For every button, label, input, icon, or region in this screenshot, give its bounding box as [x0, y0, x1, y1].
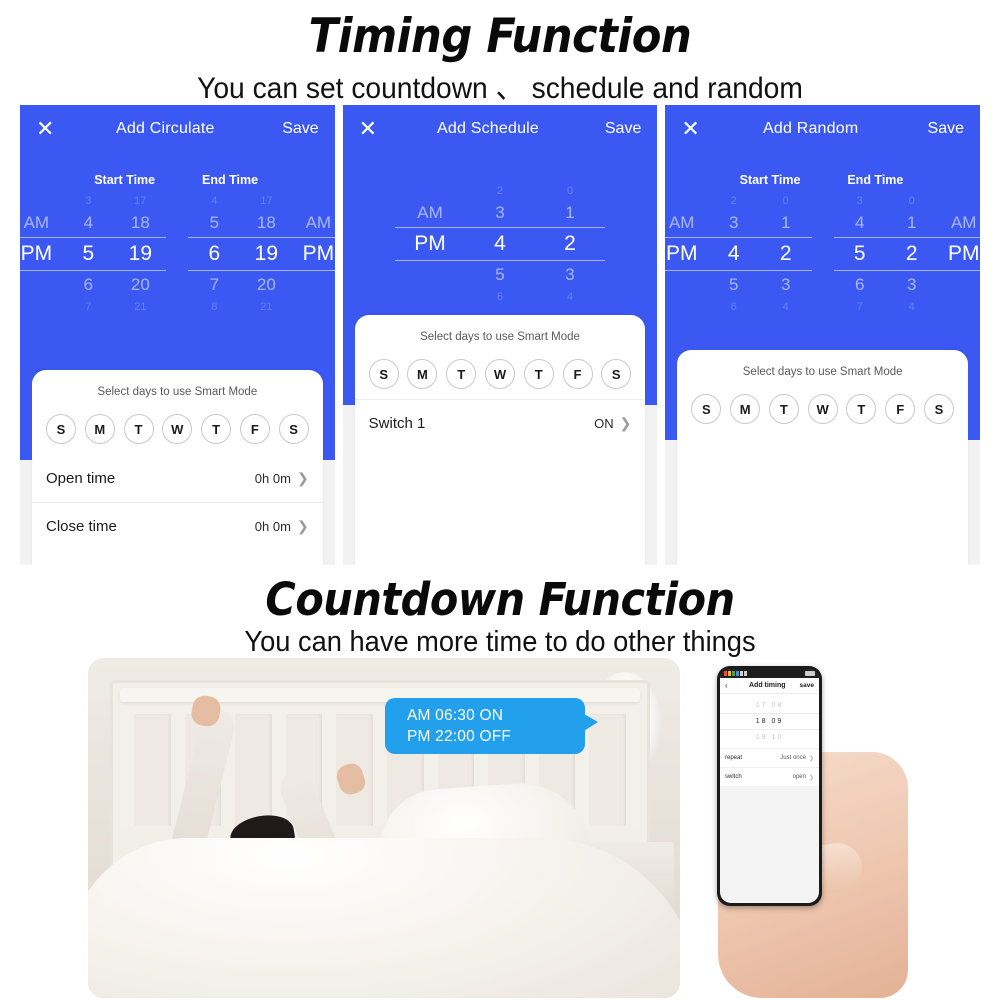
wheel-option[interactable]: 17: [114, 193, 166, 209]
page-title-countdown: Countdown Function: [40, 565, 960, 627]
wheel-option[interactable]: 18: [240, 209, 292, 237]
row-label: Open time: [46, 470, 255, 487]
wheel-option[interactable]: 3: [465, 199, 535, 227]
wheel-option[interactable]: 6: [62, 271, 114, 299]
wheel-start-hour[interactable]: 23456: [708, 193, 760, 315]
day-toggle-3[interactable]: W: [808, 394, 838, 424]
card-title: Select days to use Smart Mode: [32, 370, 323, 400]
wheel-option[interactable]: 3: [62, 193, 114, 209]
row-value: ON: [594, 416, 614, 431]
wheel-gap: [166, 193, 188, 315]
wheel-option[interactable]: [20, 271, 62, 299]
wheel-option[interactable]: 5: [62, 237, 114, 271]
spacer: [32, 444, 323, 454]
app-screens-row: ✕Add CirculateSaveStart TimeEnd TimeAMPM…: [20, 105, 980, 565]
phone-settings-rows: repeatJust once❯switchopen❯: [720, 748, 819, 786]
wheel-option[interactable]: 2: [886, 237, 938, 271]
wheel-option[interactable]: 5: [465, 261, 535, 289]
phone-settings-row[interactable]: repeatJust once❯: [720, 748, 819, 767]
wheel-option[interactable]: [292, 271, 334, 299]
phone-row-value: open: [793, 774, 806, 780]
wheel-option[interactable]: 7: [62, 299, 114, 315]
wheel-end-hour[interactable]: 34567: [834, 193, 886, 315]
wheel-option[interactable]: 4: [760, 299, 812, 315]
chevron-right-icon[interactable]: ❯: [297, 518, 309, 535]
wheel-option[interactable]: [938, 299, 980, 315]
wheel-option[interactable]: PM: [938, 237, 980, 271]
settings-row[interactable]: Switch 1ON❯: [355, 399, 646, 447]
screen-title: Add Random: [709, 120, 912, 138]
wheel-option[interactable]: [292, 193, 334, 209]
wheel-option[interactable]: 20: [240, 271, 292, 299]
phone-empty-area: [720, 786, 819, 846]
card-title: Select days to use Smart Mode: [355, 315, 646, 345]
phone-row-value: Just once: [780, 755, 806, 761]
wheel-option[interactable]: [20, 299, 62, 315]
wheel-option[interactable]: 8: [188, 299, 240, 315]
wheel-end-hour[interactable]: 45678: [188, 193, 240, 315]
chevron-right-icon[interactable]: ❯: [620, 415, 632, 432]
wheel-option[interactable]: PM: [665, 237, 707, 271]
phone-wheel-option[interactable]: 19 10: [720, 730, 819, 745]
phone-row-label: repeat: [725, 755, 780, 761]
row-label: Close time: [46, 518, 255, 535]
day-toggle-5[interactable]: F: [885, 394, 915, 424]
nav-bar: ✕Add ScheduleSave: [343, 105, 658, 153]
wheel-option[interactable]: 5: [188, 209, 240, 237]
smart-mode-card: Select days to use Smart ModeSMTWTFSOpen…: [32, 370, 323, 565]
nav-bar: ✕Add RandomSave: [665, 105, 980, 153]
chevron-right-icon[interactable]: ❯: [809, 774, 814, 781]
day-toggle-6[interactable]: S: [279, 414, 309, 444]
phone-time-wheel[interactable]: 17 0818 0919 10: [720, 694, 819, 748]
wheel-option[interactable]: 2: [760, 237, 812, 271]
wheel-option[interactable]: [395, 261, 465, 289]
start-time-label: Start Time: [717, 173, 822, 187]
wheel-hour[interactable]: 23456: [465, 183, 535, 305]
wheel-option[interactable]: [292, 299, 334, 315]
page-title-timing: Timing Function: [40, 0, 960, 65]
wheel-option[interactable]: PM: [395, 227, 465, 261]
wheel-option[interactable]: 6: [188, 237, 240, 271]
wheel-group: AMPM23456012343456701234AMPM: [665, 193, 980, 315]
wheel-option[interactable]: [665, 271, 707, 299]
wheel-start-hour[interactable]: 34567: [62, 193, 114, 315]
screen-title: Add Schedule: [387, 120, 590, 138]
wheel-option[interactable]: 5: [708, 271, 760, 299]
wheel-option[interactable]: 3: [886, 271, 938, 299]
day-toggle-4[interactable]: T: [846, 394, 876, 424]
phone-save-button[interactable]: save: [800, 682, 814, 689]
wheel-option[interactable]: [395, 289, 465, 305]
settings-row[interactable]: Open time0h 0m❯: [32, 454, 323, 502]
phone-row-label: switch: [725, 774, 793, 780]
phone-nav-title: Add timing: [735, 682, 800, 689]
day-selector: SMTWTFS: [32, 400, 323, 444]
day-toggle-1[interactable]: M: [730, 394, 760, 424]
wheel-group: AMPM345671718192021456781718192021AMPM: [20, 193, 335, 315]
day-toggle-6[interactable]: S: [601, 359, 631, 389]
wheel-option[interactable]: 19: [114, 237, 166, 271]
save-button[interactable]: Save: [267, 120, 319, 138]
wheel-option[interactable]: 4: [834, 209, 886, 237]
phone-status-bar: [720, 669, 819, 678]
status-icons-left: [724, 671, 747, 676]
wheel-minute[interactable]: 01234: [535, 183, 605, 305]
wheel-option[interactable]: [938, 271, 980, 299]
screen-title: Add Circulate: [64, 120, 267, 138]
wheel-option[interactable]: PM: [292, 237, 334, 271]
day-selector: SMTWTFS: [677, 380, 968, 424]
time-picker[interactable]: AMPM345671718192021456781718192021AMPM: [20, 193, 335, 315]
wheel-option[interactable]: 2: [465, 183, 535, 199]
wheel-option[interactable]: 4: [465, 227, 535, 261]
wheel-option[interactable]: [20, 193, 62, 209]
spacer: [677, 424, 968, 434]
page-subtitle-timing: You can set countdown 、 schedule and ran…: [30, 65, 970, 109]
day-toggle-2[interactable]: T: [446, 359, 476, 389]
day-toggle-3[interactable]: W: [162, 414, 192, 444]
wheel-group: AMPM2345601234: [395, 183, 605, 305]
wheel-end-minute[interactable]: 01234: [886, 193, 938, 315]
wheel-meridiem[interactable]: AMPM: [395, 183, 465, 305]
row-value: 0h 0m: [255, 471, 291, 486]
wheel-option[interactable]: 4: [886, 299, 938, 315]
day-toggle-0[interactable]: S: [46, 414, 76, 444]
day-toggle-0[interactable]: S: [691, 394, 721, 424]
day-toggle-2[interactable]: T: [124, 414, 154, 444]
wheel-option[interactable]: 7: [834, 299, 886, 315]
wheel-option[interactable]: 3: [535, 261, 605, 289]
wheel-gap: [812, 193, 834, 315]
picker-column-headers: Start TimeEnd Time: [665, 173, 980, 187]
wheel-end-meridiem[interactable]: AMPM: [938, 193, 980, 315]
close-icon[interactable]: ✕: [681, 118, 709, 140]
bubble-line-on: AM 06:30 ON: [407, 705, 585, 726]
wheel-option[interactable]: AM: [665, 209, 707, 237]
smartphone: ‹ Add timing save 17 0818 0919 10 repeat…: [717, 666, 822, 906]
spacer: [355, 389, 646, 399]
wheel-option[interactable]: 3: [834, 193, 886, 209]
day-toggle-1[interactable]: M: [85, 414, 115, 444]
phone-wheel-option[interactable]: 18 09: [720, 713, 819, 730]
row-value: 0h 0m: [255, 519, 291, 534]
settings-row[interactable]: Close time0h 0m❯: [32, 502, 323, 550]
app-screen-add-random: ✕Add RandomSaveStart TimeEnd TimeAMPM234…: [665, 105, 980, 565]
wheel-start-minute[interactable]: 1718192021: [114, 193, 166, 315]
smart-mode-card: Select days to use Smart ModeSMTWTFS: [677, 350, 968, 565]
app-screen-add-schedule: ✕Add ScheduleSaveAMPM2345601234Select da…: [343, 105, 658, 565]
wheel-option[interactable]: 0: [760, 193, 812, 209]
start-time-label: Start Time: [72, 173, 177, 187]
wheel-option[interactable]: 2: [708, 193, 760, 209]
wheel-option[interactable]: 3: [760, 271, 812, 299]
duvet: [88, 838, 680, 998]
end-time-label: End Time: [177, 173, 282, 187]
wheel-option[interactable]: 0: [886, 193, 938, 209]
close-icon[interactable]: ✕: [36, 118, 64, 140]
day-toggle-2[interactable]: T: [769, 394, 799, 424]
battery-icon: [805, 671, 815, 676]
wheel-option[interactable]: 21: [114, 299, 166, 315]
nav-bar: ✕Add CirculateSave: [20, 105, 335, 153]
day-toggle-4[interactable]: T: [201, 414, 231, 444]
smart-mode-card: Select days to use Smart ModeSMTWTFSSwit…: [355, 315, 646, 565]
wheel-option[interactable]: 6: [834, 271, 886, 299]
chevron-right-icon[interactable]: ❯: [297, 470, 309, 487]
row-label: Switch 1: [369, 415, 594, 432]
picker-column-headers: Start TimeEnd Time: [20, 173, 335, 187]
wheel-option[interactable]: 20: [114, 271, 166, 299]
wheel-option[interactable]: AM: [292, 209, 334, 237]
lifestyle-photo: [88, 658, 680, 998]
wheel-option[interactable]: 5: [834, 237, 886, 271]
wheel-option[interactable]: AM: [20, 209, 62, 237]
wheel-option[interactable]: 0: [535, 183, 605, 199]
day-toggle-5[interactable]: F: [563, 359, 593, 389]
wheel-option[interactable]: 4: [708, 237, 760, 271]
app-screen-add-circulate: ✕Add CirculateSaveStart TimeEnd TimeAMPM…: [20, 105, 335, 565]
wheel-option[interactable]: 6: [465, 289, 535, 305]
phone-nav-bar: ‹ Add timing save: [720, 678, 819, 694]
wheel-option[interactable]: 1: [760, 209, 812, 237]
page-subtitle-countdown: You can have more time to do other thing…: [30, 620, 970, 661]
wheel-option[interactable]: 19: [240, 237, 292, 271]
wheel-end-minute[interactable]: 1718192021: [240, 193, 292, 315]
save-button[interactable]: Save: [912, 120, 964, 138]
end-time-label: End Time: [823, 173, 928, 187]
day-toggle-4[interactable]: T: [524, 359, 554, 389]
day-toggle-0[interactable]: S: [369, 359, 399, 389]
wheel-option[interactable]: [395, 183, 465, 199]
wheel-option[interactable]: [938, 193, 980, 209]
day-toggle-1[interactable]: M: [407, 359, 437, 389]
wheel-option[interactable]: 3: [708, 209, 760, 237]
wheel-option[interactable]: 6: [708, 299, 760, 315]
wheel-start-meridiem[interactable]: AMPM: [665, 193, 707, 315]
wheel-option[interactable]: AM: [938, 209, 980, 237]
wheel-option[interactable]: AM: [395, 199, 465, 227]
wheel-option[interactable]: [665, 193, 707, 209]
wheel-option[interactable]: 1: [535, 199, 605, 227]
bubble-line-off: PM 22:00 OFF: [407, 726, 585, 747]
chevron-left-icon[interactable]: ‹: [725, 681, 735, 690]
wheel-option[interactable]: 4: [62, 209, 114, 237]
card-title: Select days to use Smart Mode: [677, 350, 968, 380]
day-toggle-5[interactable]: F: [240, 414, 270, 444]
phone-settings-row[interactable]: switchopen❯: [720, 767, 819, 786]
phone-screen: ‹ Add timing save 17 0818 0919 10 repeat…: [720, 669, 819, 903]
phone-wheel-option[interactable]: 17 08: [720, 698, 819, 713]
wheel-option[interactable]: PM: [20, 237, 62, 271]
wheel-option[interactable]: 4: [188, 193, 240, 209]
time-picker[interactable]: AMPM2345601234: [343, 183, 658, 305]
day-toggle-6[interactable]: S: [924, 394, 954, 424]
wheel-option[interactable]: 4: [535, 289, 605, 305]
chevron-right-icon[interactable]: ❯: [809, 755, 814, 762]
wheel-start-minute[interactable]: 01234: [760, 193, 812, 315]
hand-holding-phone: ‹ Add timing save 17 0818 0919 10 repeat…: [690, 658, 920, 998]
schedule-callout-bubble: AM 06:30 ON PM 22:00 OFF: [385, 698, 585, 754]
wheel-start-meridiem[interactable]: AMPM: [20, 193, 62, 315]
wheel-option[interactable]: 7: [188, 271, 240, 299]
save-button[interactable]: Save: [589, 120, 641, 138]
time-picker[interactable]: AMPM23456012343456701234AMPM: [665, 193, 980, 315]
day-selector: SMTWTFS: [355, 345, 646, 389]
day-toggle-3[interactable]: W: [485, 359, 515, 389]
wheel-option[interactable]: 2: [535, 227, 605, 261]
wheel-option[interactable]: 1: [886, 209, 938, 237]
close-icon[interactable]: ✕: [359, 118, 387, 140]
wheel-option[interactable]: 17: [240, 193, 292, 209]
wheel-option[interactable]: 18: [114, 209, 166, 237]
wheel-end-meridiem[interactable]: AMPM: [292, 193, 334, 315]
wheel-option[interactable]: [665, 299, 707, 315]
wheel-option[interactable]: 21: [240, 299, 292, 315]
